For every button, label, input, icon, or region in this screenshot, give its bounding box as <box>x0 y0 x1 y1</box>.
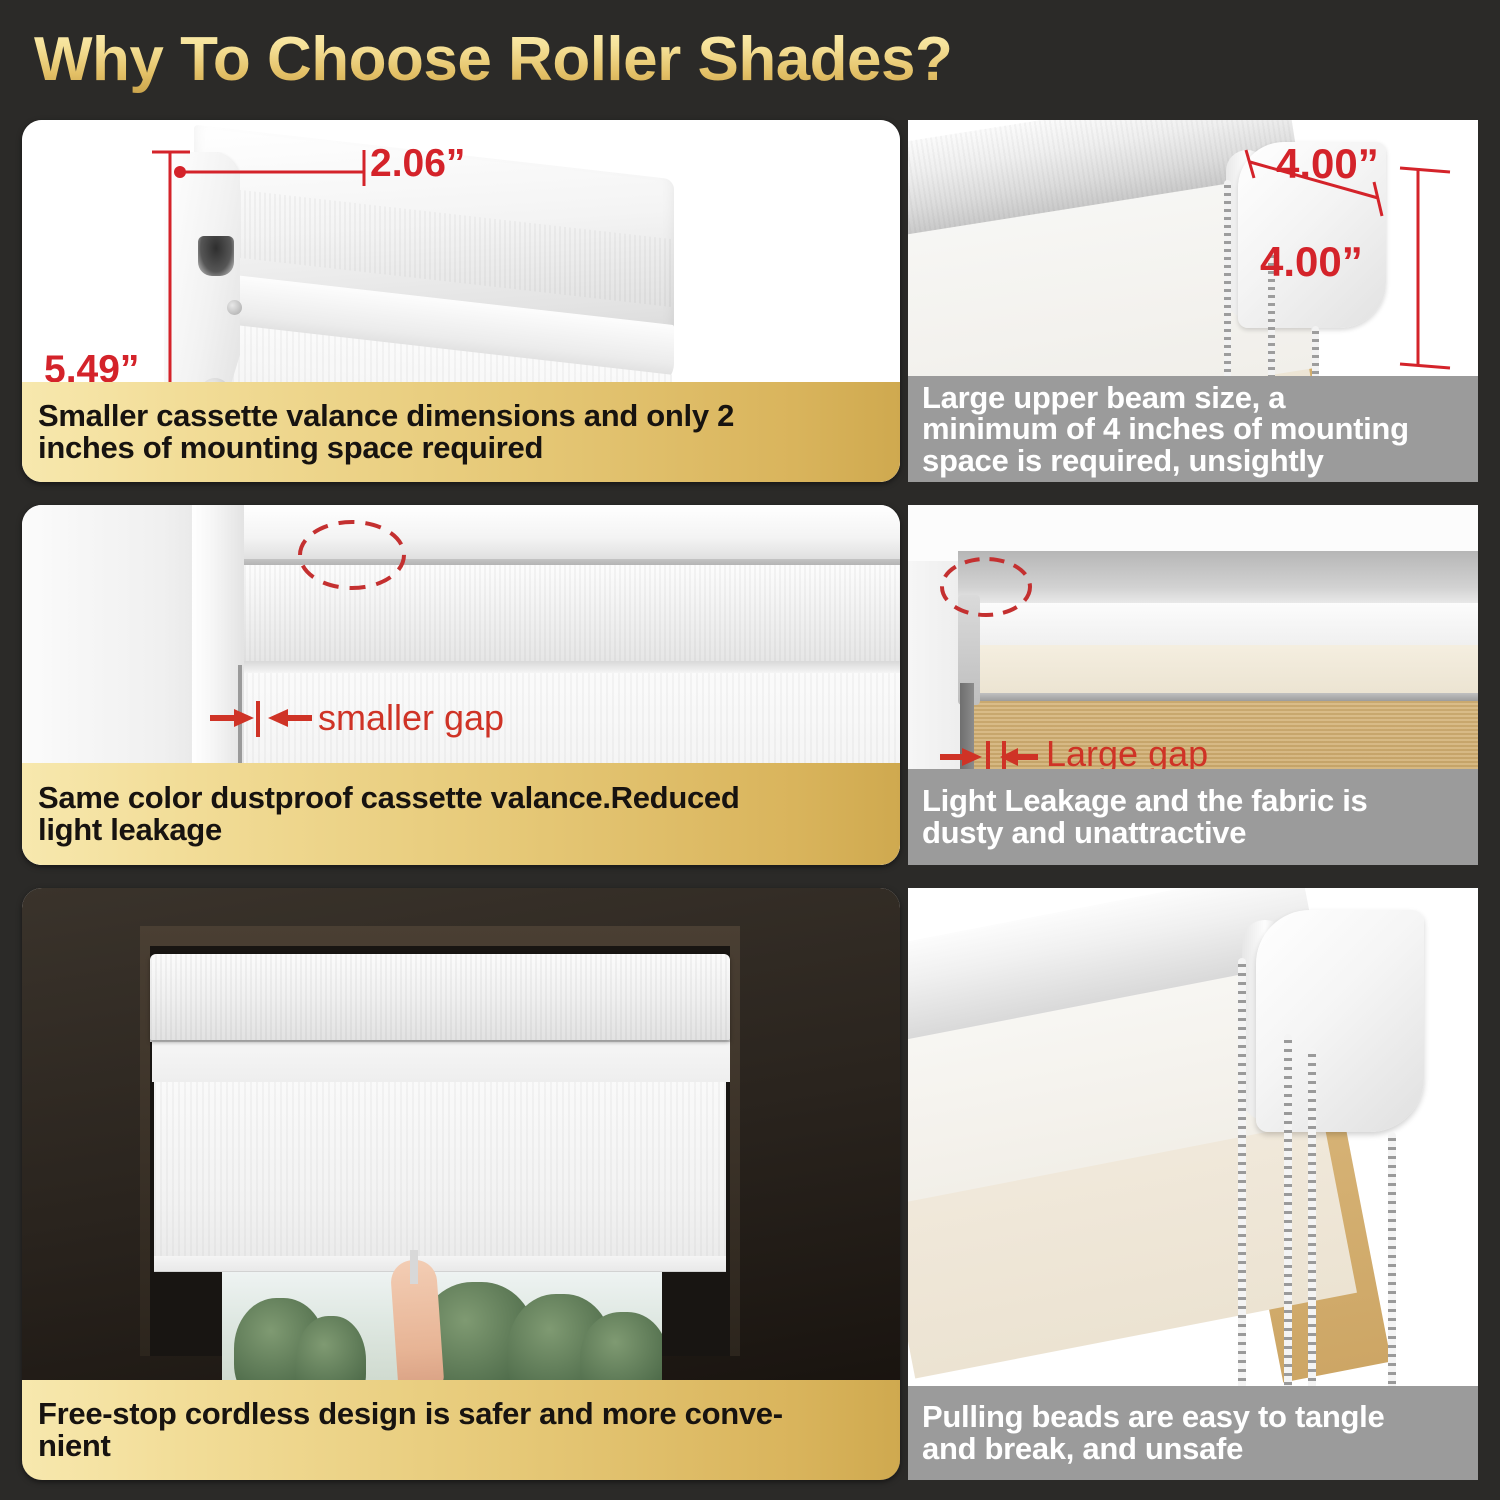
caption-cassette-good: Smaller cassette valance dimensions and … <box>22 382 900 482</box>
cassette-valance <box>150 954 730 1040</box>
caption-cordless-good: Free-stop cordless design is safer and m… <box>22 1380 900 1480</box>
cassette-slot <box>198 236 234 276</box>
caption-beads-bad: Pulling beads are easy to tangle and bre… <box>908 1386 1478 1480</box>
pull-tab <box>410 1250 418 1284</box>
window-frame-top <box>192 505 900 559</box>
shade-fabric <box>154 1074 726 1256</box>
caption-gap-good: Same color dustproof cassette valance.Re… <box>22 763 900 865</box>
page-title: Why To Choose Roller Shades? <box>34 24 952 95</box>
beam-mid-face <box>958 599 1478 645</box>
width-dimension-label: 2.06” <box>370 142 465 186</box>
caption-text: Free-stop cordless design is safer and m… <box>38 1398 783 1461</box>
panel-cassette-good: 2.06” 5.49” Smaller cassette valance dim… <box>22 120 900 482</box>
panel-beam-bad: 4.00” 4.00” Large upper beam size, a min… <box>908 120 1478 482</box>
caption-text: Light Leakage and the fabric is dusty an… <box>922 785 1367 848</box>
caption-gap-bad: Light Leakage and the fabric is dusty an… <box>908 769 1478 865</box>
panel-cordless-good: Free-stop cordless design is safer and m… <box>22 888 900 1480</box>
width-dimension-label: 4.00” <box>1276 140 1379 188</box>
screw-icon <box>227 300 242 315</box>
gap-callout-label: smaller gap <box>318 697 504 739</box>
beam-cream-face <box>970 637 1478 693</box>
beam-top-face <box>958 551 1478 603</box>
caption-text: Large upper beam size, a minimum of 4 in… <box>922 382 1409 477</box>
panel-gap-bad: Large gap Light Leakage and the fabric i… <box>908 505 1478 865</box>
height-dimension-label: 4.00” <box>1260 238 1363 286</box>
mounting-bracket <box>1256 910 1424 1132</box>
shade-upper-fabric <box>152 1040 730 1082</box>
panel-beads-bad: Pulling beads are easy to tangle and bre… <box>908 888 1478 1480</box>
cassette-valance <box>244 563 900 661</box>
title-bar: Why To Choose Roller Shades? <box>0 0 1500 118</box>
caption-beam-bad: Large upper beam size, a minimum of 4 in… <box>908 376 1478 482</box>
caption-text: Pulling beads are easy to tangle and bre… <box>922 1401 1384 1464</box>
caption-text: Smaller cassette valance dimensions and … <box>38 400 734 463</box>
caption-text: Same color dustproof cassette valance.Re… <box>38 782 739 845</box>
panel-gap-good: smaller gap Same color dustproof cassett… <box>22 505 900 865</box>
